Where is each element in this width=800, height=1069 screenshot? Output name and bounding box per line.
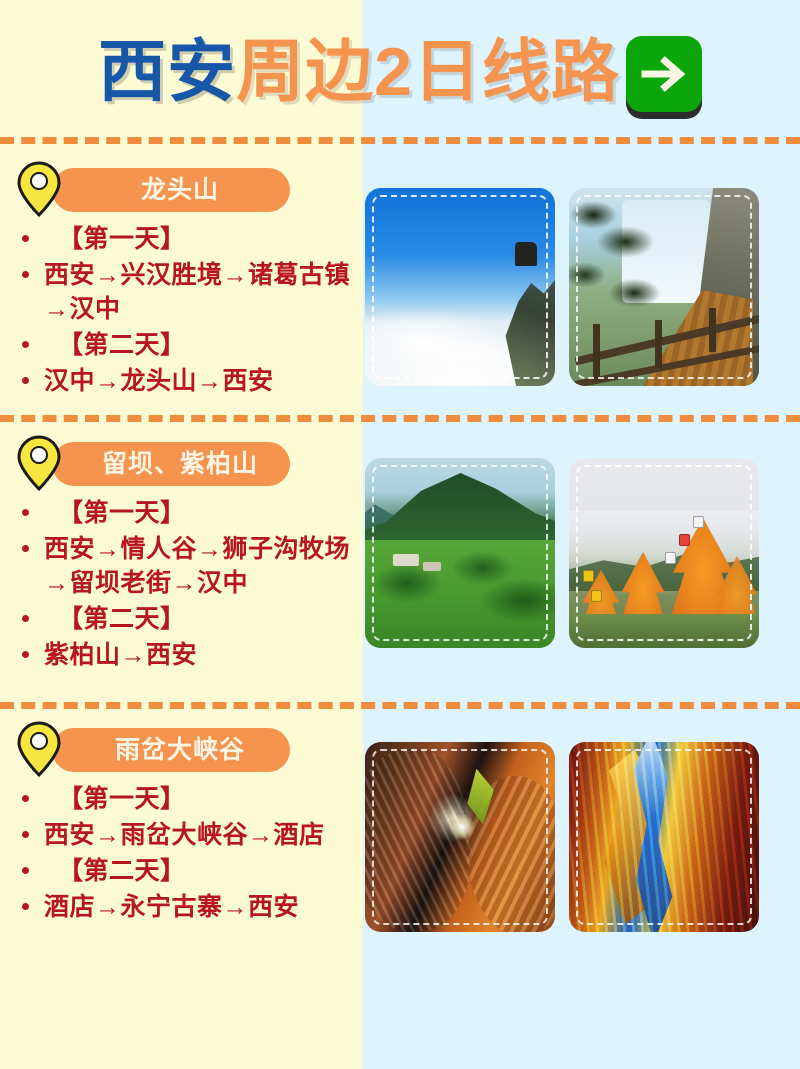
- route-item: 【第一天】: [14, 496, 359, 530]
- route-title-2: 留坝、紫柏山: [52, 442, 290, 486]
- photo-thumbnail[interactable]: [569, 188, 759, 386]
- route-title-1: 龙头山: [52, 168, 290, 212]
- photo-art-slot-canyon-blue-gold: [569, 742, 759, 932]
- route-info-1: 龙头山 【第一天】 西安→兴汉胜境→诸葛古镇→汉中 【第二天】 汉中→龙头山→西…: [14, 168, 359, 400]
- route-item: 紫柏山→西安: [14, 638, 359, 672]
- title-orange-part: 周边2日线路: [236, 38, 620, 106]
- arrow-right-icon: [639, 49, 689, 99]
- route-heading-3: 雨岔大峡谷: [14, 728, 359, 776]
- photo-art-slot-canyon-warm: [365, 742, 555, 932]
- route-list-1: 【第一天】 西安→兴汉胜境→诸葛古镇→汉中 【第二天】 汉中→龙头山→西安: [14, 222, 359, 398]
- route-section-3: 雨岔大峡谷 【第一天】 西安→雨岔大峡谷→酒店 【第二天】 酒店→永宁古寨→西安: [0, 714, 800, 964]
- route-info-3: 雨岔大峡谷 【第一天】 西安→雨岔大峡谷→酒店 【第二天】 酒店→永宁古寨→西安: [14, 728, 359, 926]
- page-title: 西安 周边2日线路: [98, 34, 702, 110]
- photo-group-3: [365, 742, 785, 932]
- arrow-right-button[interactable]: [626, 36, 702, 112]
- section-divider-2: [0, 415, 800, 422]
- route-heading-2: 留坝、紫柏山: [14, 442, 359, 490]
- route-heading-1: 龙头山: [14, 168, 359, 216]
- photo-thumbnail[interactable]: [365, 458, 555, 648]
- map-pin-icon: [16, 434, 62, 492]
- route-list-3: 【第一天】 西安→雨岔大峡谷→酒店 【第二天】 酒店→永宁古寨→西安: [14, 782, 359, 924]
- photo-art-green-village: [365, 458, 555, 648]
- poster-header: 西安 周边2日线路: [0, 0, 800, 140]
- route-info-2: 留坝、紫柏山 【第一天】 西安→情人谷→狮子沟牧场→留坝老街→汉中 【第二天】 …: [14, 442, 359, 674]
- photo-thumbnail[interactable]: [365, 742, 555, 932]
- route-item: 【第二天】: [14, 854, 359, 888]
- route-section-1: 龙头山 【第一天】 西安→兴汉胜境→诸葛古镇→汉中 【第二天】 汉中→龙头山→西…: [0, 150, 800, 412]
- poster-root: 西安 周边2日线路 龙头山: [0, 0, 800, 1069]
- route-item: 西安→雨岔大峡谷→酒店: [14, 818, 359, 852]
- route-item: 西安→情人谷→狮子沟牧场→留坝老街→汉中: [14, 532, 359, 600]
- route-item: 汉中→龙头山→西安: [14, 364, 359, 398]
- route-item: 酒店→永宁古寨→西安: [14, 890, 359, 924]
- photo-thumbnail[interactable]: [569, 742, 759, 932]
- route-item: 【第二天】: [14, 602, 359, 636]
- photo-art-cliff-walkway: [569, 188, 759, 386]
- route-item: 【第一天】: [14, 222, 359, 256]
- map-pin-icon: [16, 160, 62, 218]
- section-divider-3: [0, 702, 800, 709]
- photo-art-autumn-larch: [569, 458, 759, 648]
- route-item: 【第一天】: [14, 782, 359, 816]
- route-item: 【第二天】: [14, 328, 359, 362]
- photo-group-2: [365, 458, 785, 648]
- photo-thumbnail[interactable]: [569, 458, 759, 648]
- route-title-3: 雨岔大峡谷: [52, 728, 290, 772]
- photo-group-1: [365, 188, 785, 386]
- title-blue-part: 西安: [98, 38, 236, 106]
- route-section-2: 留坝、紫柏山 【第一天】 西安→情人谷→狮子沟牧场→留坝老街→汉中 【第二天】 …: [0, 424, 800, 699]
- photo-thumbnail[interactable]: [365, 188, 555, 386]
- photo-art-sea-of-clouds: [365, 188, 555, 386]
- map-pin-icon: [16, 720, 62, 778]
- route-item: 西安→兴汉胜境→诸葛古镇→汉中: [14, 258, 359, 326]
- route-list-2: 【第一天】 西安→情人谷→狮子沟牧场→留坝老街→汉中 【第二天】 紫柏山→西安: [14, 496, 359, 672]
